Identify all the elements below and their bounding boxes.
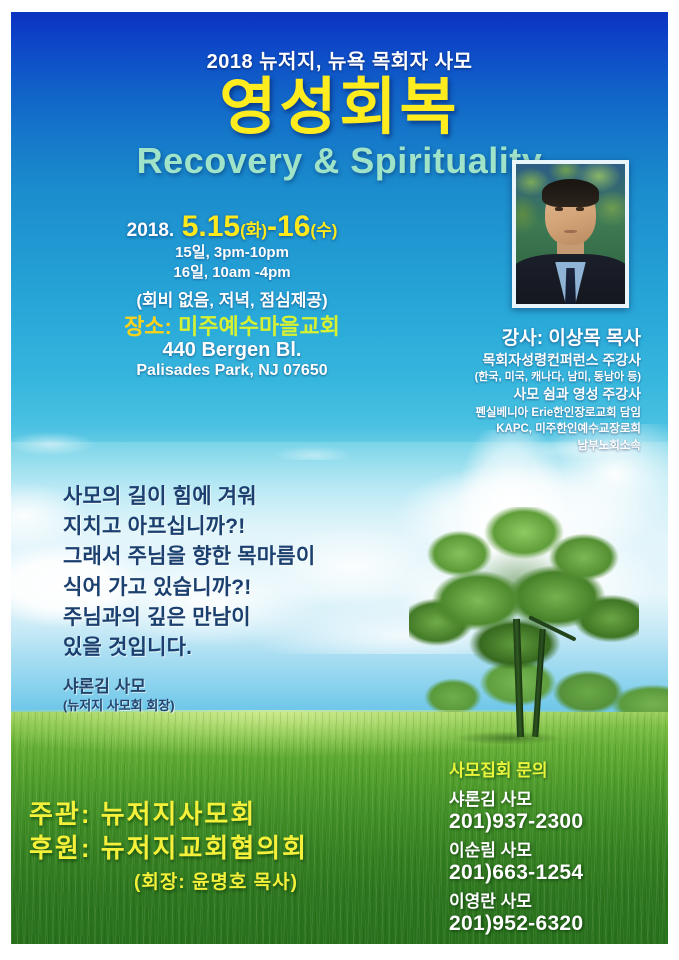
- sponsor-support: 후원: 뉴저지교회협의회: [29, 831, 429, 865]
- speaker-credential-4: 펜실베니아 Erie한인장로교회 담임: [409, 405, 641, 422]
- event-weekday-1: (화): [240, 221, 267, 240]
- tree-canopy: [409, 507, 639, 687]
- schedule-block: 2018. 5.15(화)-16(수) 15일, 3pm-10pm 16일, 1…: [11, 210, 453, 380]
- page-title: 영성회복: [11, 76, 668, 139]
- speaker-credential-5: KAPC, 미주한인예수교장로회: [409, 421, 641, 438]
- contact-phone[interactable]: 201)952-6320: [449, 912, 668, 936]
- quote-block: 사모의 길이 힘에 겨워 지치고 아프십니까?! 그래서 주님을 향한 목마름이…: [63, 482, 403, 715]
- event-weekday-2: (수): [310, 221, 337, 240]
- portrait-necktie: [565, 268, 576, 304]
- contact-name: 이영란 사모: [449, 892, 668, 912]
- quote-line: 주님과의 깊은 만남이: [63, 603, 403, 633]
- speaker-credential-1: 목회자성령컨퍼런스 주강사: [409, 351, 641, 370]
- large-tree-illustration: [409, 507, 639, 742]
- portrait-eye-right: [576, 207, 584, 211]
- sponsor-host: 주관: 뉴저지사모회: [29, 797, 429, 831]
- sponsors-block: 주관: 뉴저지사모회 후원: 뉴저지교회협의회 (회장: 윤명호 목사): [29, 797, 429, 894]
- venue-label: 장소:: [124, 314, 172, 339]
- header-block: 2018 뉴저지, 뉴욕 목회자 사모 영성회복 Recovery & Spir…: [11, 12, 668, 179]
- event-fee-note: (회비 없음, 저녁, 점심제공): [11, 286, 453, 311]
- event-date-line: 2018. 5.15(화)-16(수): [11, 210, 453, 243]
- list-item: 이순림 사모 201)663-1254: [449, 841, 668, 884]
- quote-line: 그래서 주님을 향한 목마름이: [63, 542, 403, 572]
- contacts-block: 사모집회 문의 샤론김 사모 201)937-2300 이순림 사모 201)6…: [449, 760, 668, 935]
- contact-phone[interactable]: 201)663-1254: [449, 861, 668, 885]
- speaker-credential-3: 사모 쉼과 영성 주강사: [409, 385, 641, 405]
- sponsor-chair-note: (회장: 윤명호 목사): [29, 867, 429, 894]
- event-date-end: -16: [267, 210, 310, 243]
- portrait-eye-left: [555, 207, 563, 211]
- contact-name: 샤론김 사모: [449, 790, 668, 810]
- list-item: 이영란 사모 201)952-6320: [449, 892, 668, 935]
- speaker-credential-2: (한국, 미국, 캐나다, 남미, 동남아 등): [409, 370, 641, 385]
- venue-line: 장소: 미주예수마을교회: [11, 314, 453, 339]
- speaker-portrait: [516, 164, 625, 304]
- speaker-name: 강사: 이상목 목사: [409, 328, 641, 351]
- event-subtitle: 2018 뉴저지, 뉴욕 목회자 사모: [11, 45, 668, 74]
- portrait-hair: [542, 179, 599, 207]
- quote-line: 지치고 아프십니까?!: [63, 512, 403, 542]
- portrait-mouth: [564, 230, 577, 233]
- venue-name: 미주예수마을교회: [178, 314, 340, 339]
- list-item: 샤론김 사모 201)937-2300: [449, 790, 668, 833]
- quote-line: 사모의 길이 힘에 겨워: [63, 482, 403, 512]
- event-time-day2: 16일, 10am -4pm: [11, 263, 453, 283]
- venue-address-line2: Palisades Park, NJ 07650: [11, 361, 453, 380]
- speaker-credential-6: 남부노회소속: [409, 438, 641, 455]
- event-time-day1: 15일, 3pm-10pm: [11, 243, 453, 263]
- speaker-photo-frame: [512, 160, 629, 308]
- event-date: 5.15: [182, 210, 240, 243]
- venue-address-line1: 440 Bergen Bl.: [11, 339, 453, 361]
- poster-canvas: 2018 뉴저지, 뉴욕 목회자 사모 영성회복 Recovery & Spir…: [11, 12, 668, 944]
- quote-line: 식어 가고 있습니까?!: [63, 573, 403, 603]
- quote-signature: 샤론김 사모: [63, 677, 403, 697]
- quote-signature-role: (뉴저지 사모회 회장): [63, 698, 403, 715]
- tree-shadow: [437, 729, 580, 747]
- contacts-title: 사모집회 문의: [449, 760, 668, 782]
- quote-line: 있을 것입니다.: [63, 633, 403, 663]
- speaker-info-block: 강사: 이상목 목사 목회자성령컨퍼런스 주강사 (한국, 미국, 캐나다, 남…: [409, 328, 655, 455]
- contact-phone[interactable]: 201)937-2300: [449, 810, 668, 834]
- event-year: 2018.: [127, 220, 175, 241]
- contact-name: 이순림 사모: [449, 841, 668, 861]
